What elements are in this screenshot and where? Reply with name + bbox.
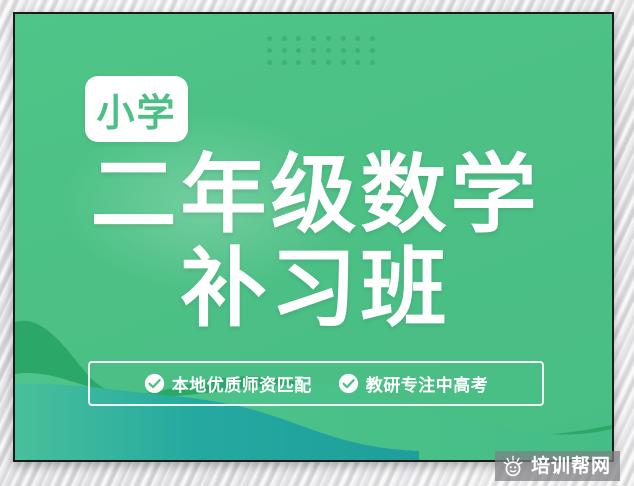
check-circle-icon (144, 373, 165, 394)
grid-dot (326, 36, 331, 41)
poster-canvas: 小学 二年级数学 补习班 (0, 0, 634, 486)
grid-dot (341, 48, 346, 53)
grid-dot (282, 48, 287, 53)
grid-dot (370, 48, 375, 53)
grid-dot (341, 60, 346, 65)
feature-item-1: 本地优质师资匹配 (144, 371, 312, 396)
grid-dot (267, 36, 272, 41)
grid-dot (311, 60, 316, 65)
grid-dot (326, 60, 331, 65)
grid-dot (296, 36, 301, 41)
grid-dot (282, 60, 287, 65)
grid-dot (311, 36, 316, 41)
grid-dot (326, 48, 331, 53)
grid-dot (296, 60, 301, 65)
grid-dot (370, 36, 375, 41)
grid-dot (267, 60, 272, 65)
course-poster-card: 小学 二年级数学 补习班 (13, 12, 614, 462)
feature-item-2: 教研专注中高考 (338, 371, 489, 396)
grid-dot (355, 48, 360, 53)
grid-dot (267, 48, 272, 53)
watermark-text: 培训帮网 (531, 457, 611, 476)
grid-dot (355, 60, 360, 65)
check-circle-icon (338, 373, 359, 394)
level-tag-badge: 小学 (85, 76, 188, 142)
features-box: 本地优质师资匹配 教研专注中高考 (88, 361, 544, 406)
dot-grid-decoration (262, 32, 380, 68)
site-watermark: 培训帮网 (495, 451, 620, 481)
grid-dot (311, 48, 316, 53)
level-tag-label: 小学 (96, 82, 176, 137)
feature-label-2: 教研专注中高考 (366, 371, 489, 396)
grid-dot (341, 36, 346, 41)
feature-label-1: 本地优质师资匹配 (172, 371, 312, 396)
grid-dot (282, 36, 287, 41)
grid-dot (370, 60, 375, 65)
sun-face-icon (502, 455, 524, 477)
poster-headline-line-1: 二年级数学 (15, 147, 614, 243)
grid-dot (355, 36, 360, 41)
grid-dot (296, 48, 301, 53)
